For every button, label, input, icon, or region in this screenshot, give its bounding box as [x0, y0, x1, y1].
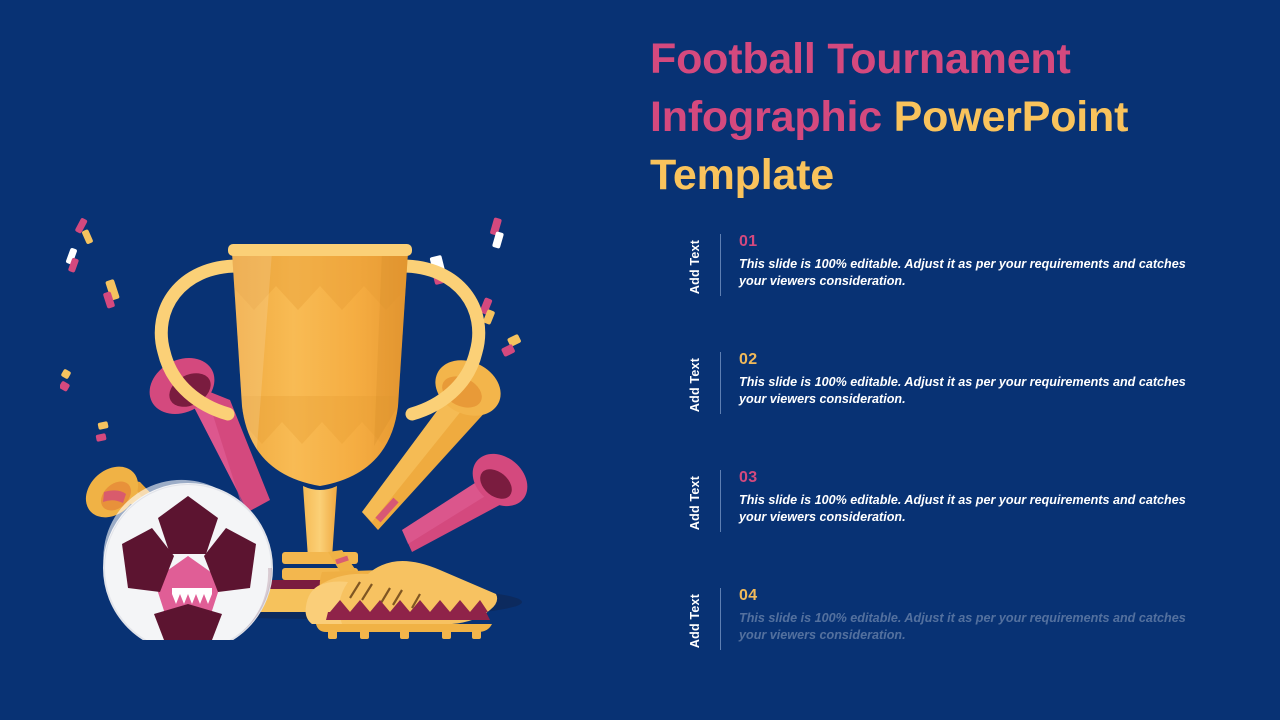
- item-description[interactable]: This slide is 100% editable. Adjust it a…: [739, 610, 1194, 644]
- add-text-label[interactable]: Add Text: [688, 476, 702, 530]
- item-number: 03: [739, 468, 1200, 488]
- add-text-label-wrap[interactable]: Add Text: [680, 586, 710, 656]
- item-body: 04 This slide is 100% editable. Adjust i…: [739, 586, 1200, 644]
- title-line-1: Football Tournament: [650, 35, 1071, 83]
- list-item[interactable]: Add Text 03 This slide is 100% editable.…: [680, 468, 1200, 586]
- list-item[interactable]: Add Text 02 This slide is 100% editable.…: [680, 350, 1200, 468]
- add-text-label-wrap[interactable]: Add Text: [680, 468, 710, 538]
- item-description[interactable]: This slide is 100% editable. Adjust it a…: [739, 374, 1194, 408]
- list-item[interactable]: Add Text 04 This slide is 100% editable.…: [680, 586, 1200, 704]
- item-divider: [720, 470, 721, 532]
- add-text-label-wrap[interactable]: Add Text: [680, 232, 710, 302]
- title-line-3: Template: [650, 151, 834, 199]
- title-line-2-pink: Infographic: [650, 93, 882, 141]
- item-body: 03 This slide is 100% editable. Adjust i…: [739, 468, 1200, 526]
- title-line-2-gold: PowerPoint: [894, 93, 1129, 141]
- add-text-label[interactable]: Add Text: [688, 358, 702, 412]
- add-text-label[interactable]: Add Text: [688, 594, 702, 648]
- slide-canvas: Football Tournament Infographic PowerPoi…: [0, 0, 1280, 720]
- content-list: Add Text 01 This slide is 100% editable.…: [680, 232, 1200, 704]
- list-item[interactable]: Add Text 01 This slide is 100% editable.…: [680, 232, 1200, 350]
- item-body: 02 This slide is 100% editable. Adjust i…: [739, 350, 1200, 408]
- item-number: 02: [739, 350, 1200, 370]
- item-divider: [720, 588, 721, 650]
- item-description[interactable]: This slide is 100% editable. Adjust it a…: [739, 492, 1194, 526]
- item-number: 01: [739, 232, 1200, 252]
- add-text-label[interactable]: Add Text: [688, 240, 702, 294]
- item-body: 01 This slide is 100% editable. Adjust i…: [739, 232, 1200, 290]
- item-divider: [720, 234, 721, 296]
- item-number: 04: [739, 586, 1200, 606]
- title-block: Football Tournament Infographic PowerPoi…: [650, 30, 1210, 204]
- page-title: Football Tournament Infographic PowerPoi…: [650, 30, 1210, 204]
- item-divider: [720, 352, 721, 414]
- add-text-label-wrap[interactable]: Add Text: [680, 350, 710, 420]
- football-trophy-illustration: [60, 200, 580, 640]
- item-description[interactable]: This slide is 100% editable. Adjust it a…: [739, 256, 1194, 290]
